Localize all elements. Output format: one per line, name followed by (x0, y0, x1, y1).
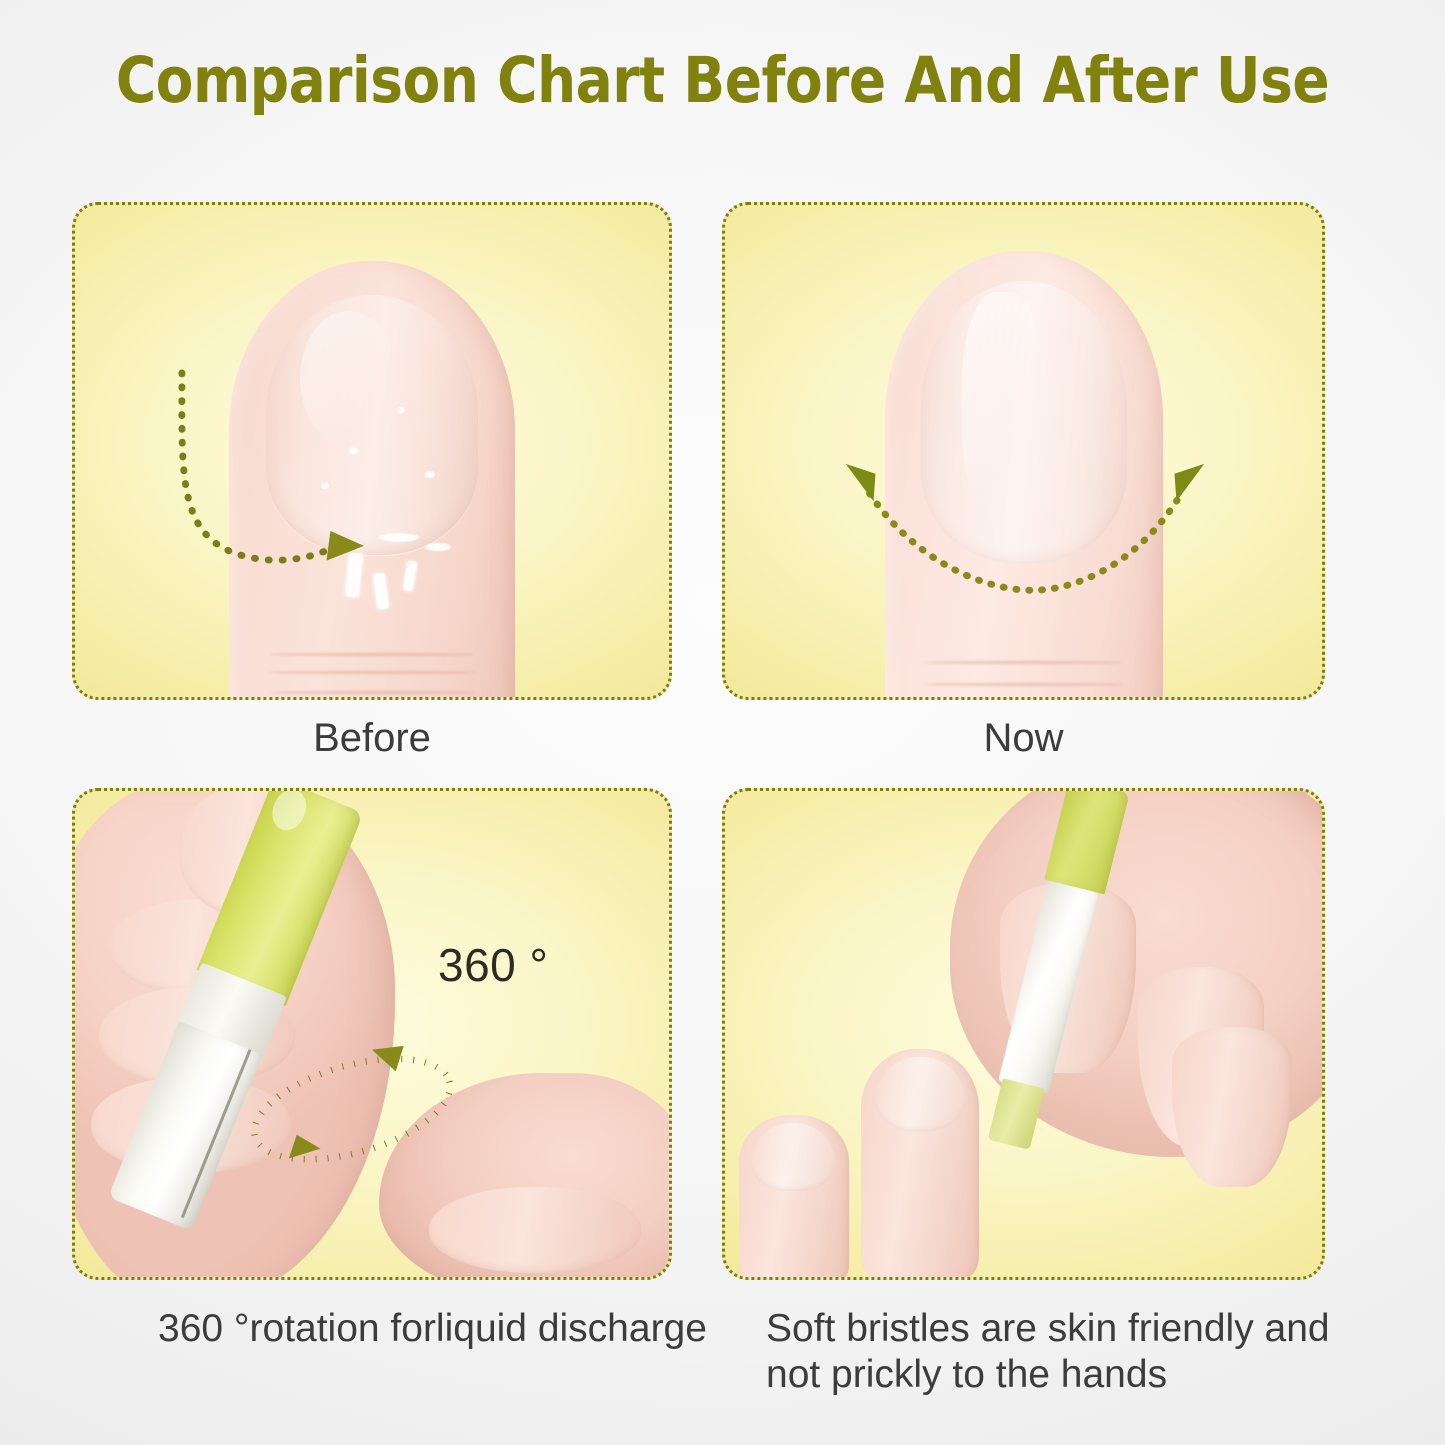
panel-before (72, 202, 672, 700)
panel-before-image (75, 205, 669, 697)
dotted-smile-double-arrow-icon (725, 205, 1322, 697)
caption-rotation: 360 °rotation forliquid discharge (158, 1306, 718, 1352)
page-title: Comparison Chart Before And After Use (22, 44, 1424, 117)
panel-now-image (725, 205, 1322, 697)
dotted-j-curve-arrow-icon (75, 205, 669, 697)
panel-bristles (722, 788, 1325, 1280)
panel-bristles-image (725, 791, 1322, 1277)
pen-brush-tip (988, 1078, 1045, 1150)
finger-curled (1172, 1027, 1292, 1187)
panel-rotation (72, 788, 672, 1280)
caption-now: Now (722, 716, 1325, 761)
caption-bristles: Soft bristles are skin friendly and not … (766, 1306, 1346, 1397)
panel-now (722, 202, 1325, 700)
nail-receiving-oil (875, 1057, 965, 1131)
panel-rotation-image (75, 791, 669, 1277)
dotted-rotation-ellipse-icon (75, 791, 669, 1277)
rotation-degree-label: 360 ° (438, 938, 548, 992)
nail-adjacent (751, 1123, 835, 1191)
caption-before: Before (72, 716, 672, 761)
